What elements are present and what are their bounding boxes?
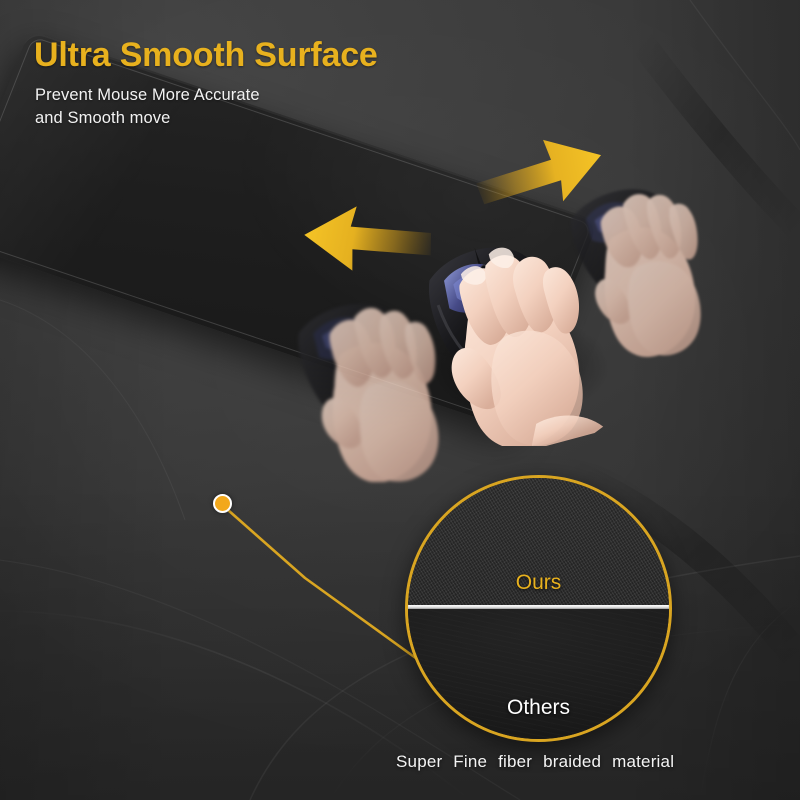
page-title: Ultra Smooth Surface xyxy=(34,36,378,75)
product-feature-image: Ours Others Ultra Smooth Surface Prevent… xyxy=(0,0,800,800)
callout-marker-dot[interactable] xyxy=(213,494,232,513)
subtitle-line-2: and Smooth move xyxy=(35,107,260,130)
page-subtitle: Prevent Mouse More Accurate and Smooth m… xyxy=(35,84,260,131)
fabric-detail-circle: Ours Others xyxy=(405,475,672,742)
fabric-caption: Super Fine fiber braided material xyxy=(396,752,674,772)
subtitle-line-1: Prevent Mouse More Accurate xyxy=(35,84,260,107)
label-ours: Ours xyxy=(408,571,669,595)
label-others: Others xyxy=(408,696,669,720)
